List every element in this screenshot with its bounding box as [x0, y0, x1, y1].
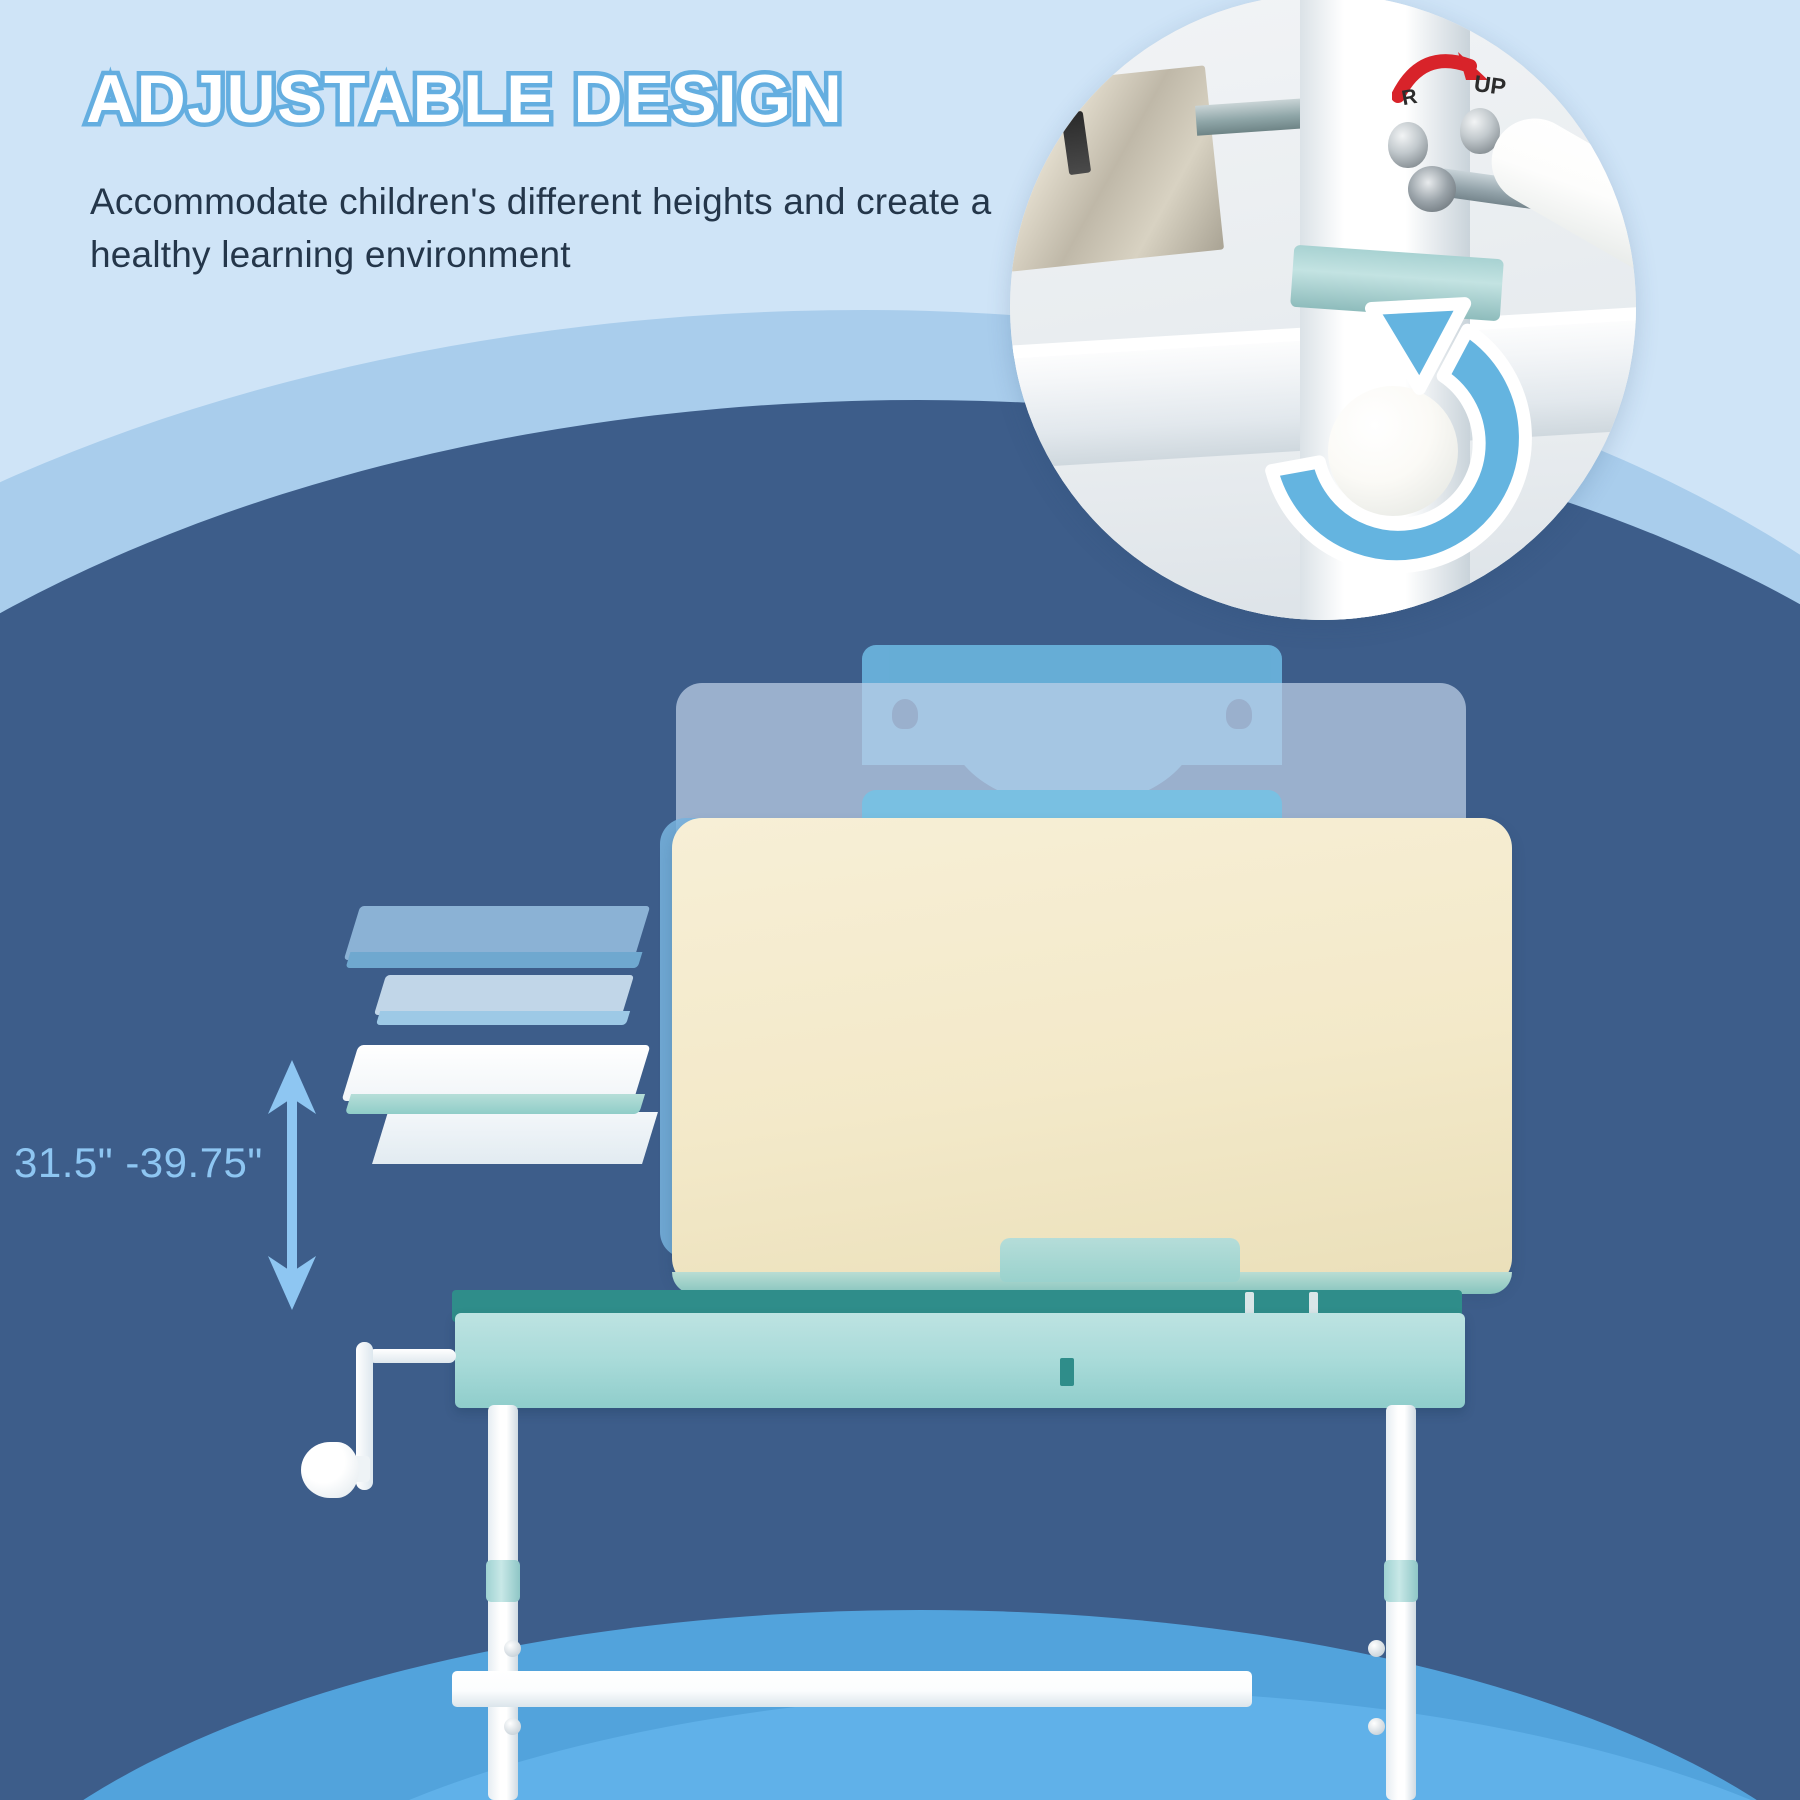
leg-right: [1386, 1405, 1416, 1800]
drawer: [455, 1313, 1465, 1408]
inset-screw-left: [1388, 122, 1428, 168]
inset-label-up: UP: [1472, 70, 1507, 101]
shelf-underside: [372, 1112, 658, 1164]
side-shelf-edge: [345, 1094, 645, 1114]
double-headed-vertical-arrow-icon: [266, 1060, 318, 1310]
ghost-shelf-mid: [374, 975, 634, 1015]
circular-rotation-arrow-icon: [1242, 279, 1572, 609]
crank-shaft: [368, 1349, 456, 1363]
desktop-surface: [672, 818, 1512, 1288]
frame-bolt: [504, 1718, 521, 1735]
lower-crossbar: [452, 1671, 1252, 1707]
detail-inset-photo: R UP: [1010, 0, 1636, 620]
crank-knob: [301, 1442, 359, 1498]
side-shelf: [341, 1045, 650, 1101]
leg-collar-left: [486, 1560, 520, 1602]
frame-bolt: [504, 1640, 521, 1657]
frame-bolt: [1368, 1640, 1385, 1657]
poster-canvas: ADJUSTABLE DESIGN Accommodate children's…: [0, 0, 1800, 1800]
ghost-shelf-high-edge: [346, 952, 643, 968]
drawer-handle: [1060, 1358, 1074, 1386]
leg-collar-right: [1384, 1560, 1418, 1602]
leg-left: [488, 1405, 518, 1800]
frame-bolt: [1368, 1718, 1385, 1735]
inset-metal-plate: [1010, 65, 1224, 271]
ghost-shelf-mid-edge: [376, 1011, 630, 1025]
inset-bolt-head: [1408, 166, 1456, 212]
book-stopper-ledge: [1000, 1238, 1240, 1282]
height-range-label: 31.5" -39.75": [14, 1139, 263, 1187]
